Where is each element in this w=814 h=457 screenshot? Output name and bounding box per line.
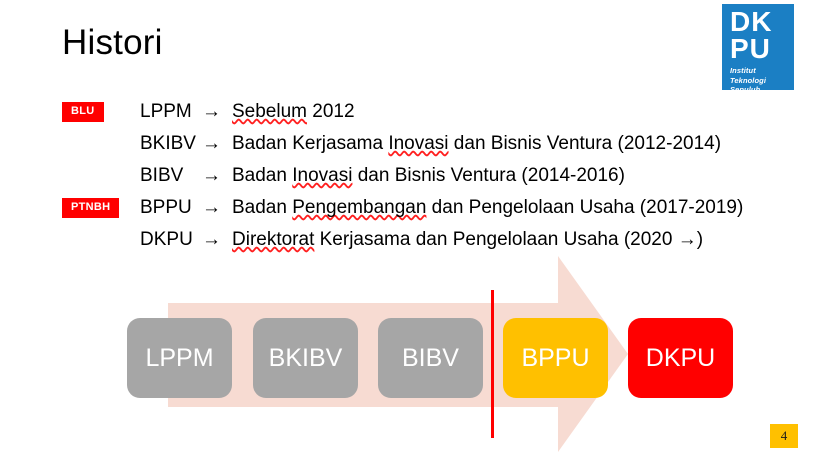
history-row: BLU LPPM → Sebelum 2012 xyxy=(62,96,792,128)
history-abbr: BPPU xyxy=(140,197,202,219)
stage-label: BIBV xyxy=(402,344,459,373)
history-description: Sebelum 2012 xyxy=(232,101,355,123)
history-abbr: LPPM xyxy=(140,101,202,123)
stage-label: LPPM xyxy=(145,344,213,373)
desc-misspelled: Sebelum xyxy=(232,101,307,122)
history-description: Badan Inovasi dan Bisnis Ventura (2014-2… xyxy=(232,165,625,187)
slide-canvas: Histori DK PU Institut Teknologi Sepuluh… xyxy=(0,0,814,457)
history-abbr: BIBV xyxy=(140,165,202,187)
desc-misspelled: Direktorat xyxy=(232,229,314,250)
badge-slot: BLU xyxy=(62,102,140,122)
desc-post: dan Bisnis Ventura (2012-2014) xyxy=(449,133,722,154)
history-description: Direktorat Kerjasama dan Pengelolaan Usa… xyxy=(232,229,703,251)
status-badge-blu: BLU xyxy=(62,102,104,122)
desc-post: dan Bisnis Ventura (2014-2016) xyxy=(352,165,625,186)
stage-box-bibv[interactable]: BIBV xyxy=(378,318,483,398)
red-divider-line xyxy=(491,290,494,438)
stage-box-bkibv[interactable]: BKIBV xyxy=(253,318,358,398)
dkpu-logo: DK PU Institut Teknologi Sepuluh Nopembe… xyxy=(722,4,794,90)
right-arrow-icon: → xyxy=(202,229,232,251)
badge-slot: PTNBH xyxy=(62,198,140,218)
logo-text-line2: PU xyxy=(730,35,788,62)
desc-post: Kerjasama dan Pengelolaan Usaha (2020 →) xyxy=(314,229,703,250)
desc-misspelled: Inovasi xyxy=(292,165,352,186)
right-arrow-icon: → xyxy=(202,101,232,123)
desc-misspelled: Inovasi xyxy=(388,133,448,154)
history-row: BKIBV → Badan Kerjasama Inovasi dan Bisn… xyxy=(62,128,792,160)
desc-post: dan Pengelolaan Usaha (2017-2019) xyxy=(426,197,743,218)
history-list: BLU LPPM → Sebelum 2012 BKIBV → Badan Ke… xyxy=(62,96,792,256)
history-abbr: BKIBV xyxy=(140,133,202,155)
desc-misspelled: Pengembangan xyxy=(292,197,426,218)
history-row: BIBV → Badan Inovasi dan Bisnis Ventura … xyxy=(62,160,792,192)
status-badge-ptnbh: PTNBH xyxy=(62,198,119,218)
right-arrow-icon: → xyxy=(202,197,232,219)
desc-pre: Badan xyxy=(232,197,292,218)
arrow-svg xyxy=(168,256,628,452)
desc-pre: Badan xyxy=(232,165,292,186)
logo-text-line1: DK xyxy=(730,8,788,35)
history-row: DKPU → Direktorat Kerjasama dan Pengelol… xyxy=(62,224,792,256)
stage-label: BPPU xyxy=(521,344,589,373)
history-description: Badan Pengembangan dan Pengelolaan Usaha… xyxy=(232,197,743,219)
page-number-badge: 4 xyxy=(770,424,798,448)
stage-label: BKIBV xyxy=(269,344,343,373)
stage-box-dkpu[interactable]: DKPU xyxy=(628,318,733,398)
history-abbr: DKPU xyxy=(140,229,202,251)
desc-pre: Badan Kerjasama xyxy=(232,133,388,154)
right-arrow-icon: → xyxy=(202,133,232,155)
right-arrow-icon: → xyxy=(202,165,232,187)
history-description: Badan Kerjasama Inovasi dan Bisnis Ventu… xyxy=(232,133,721,155)
stage-box-lppm[interactable]: LPPM xyxy=(127,318,232,398)
stage-label: DKPU xyxy=(646,344,715,373)
history-row: PTNBH BPPU → Badan Pengembangan dan Peng… xyxy=(62,192,792,224)
stage-box-bppu[interactable]: BPPU xyxy=(503,318,608,398)
pink-arrow-shape xyxy=(168,256,628,452)
page-title: Histori xyxy=(62,22,163,64)
logo-subtitle-line1: Institut Teknologi xyxy=(730,66,788,85)
desc-post: 2012 xyxy=(307,101,355,122)
